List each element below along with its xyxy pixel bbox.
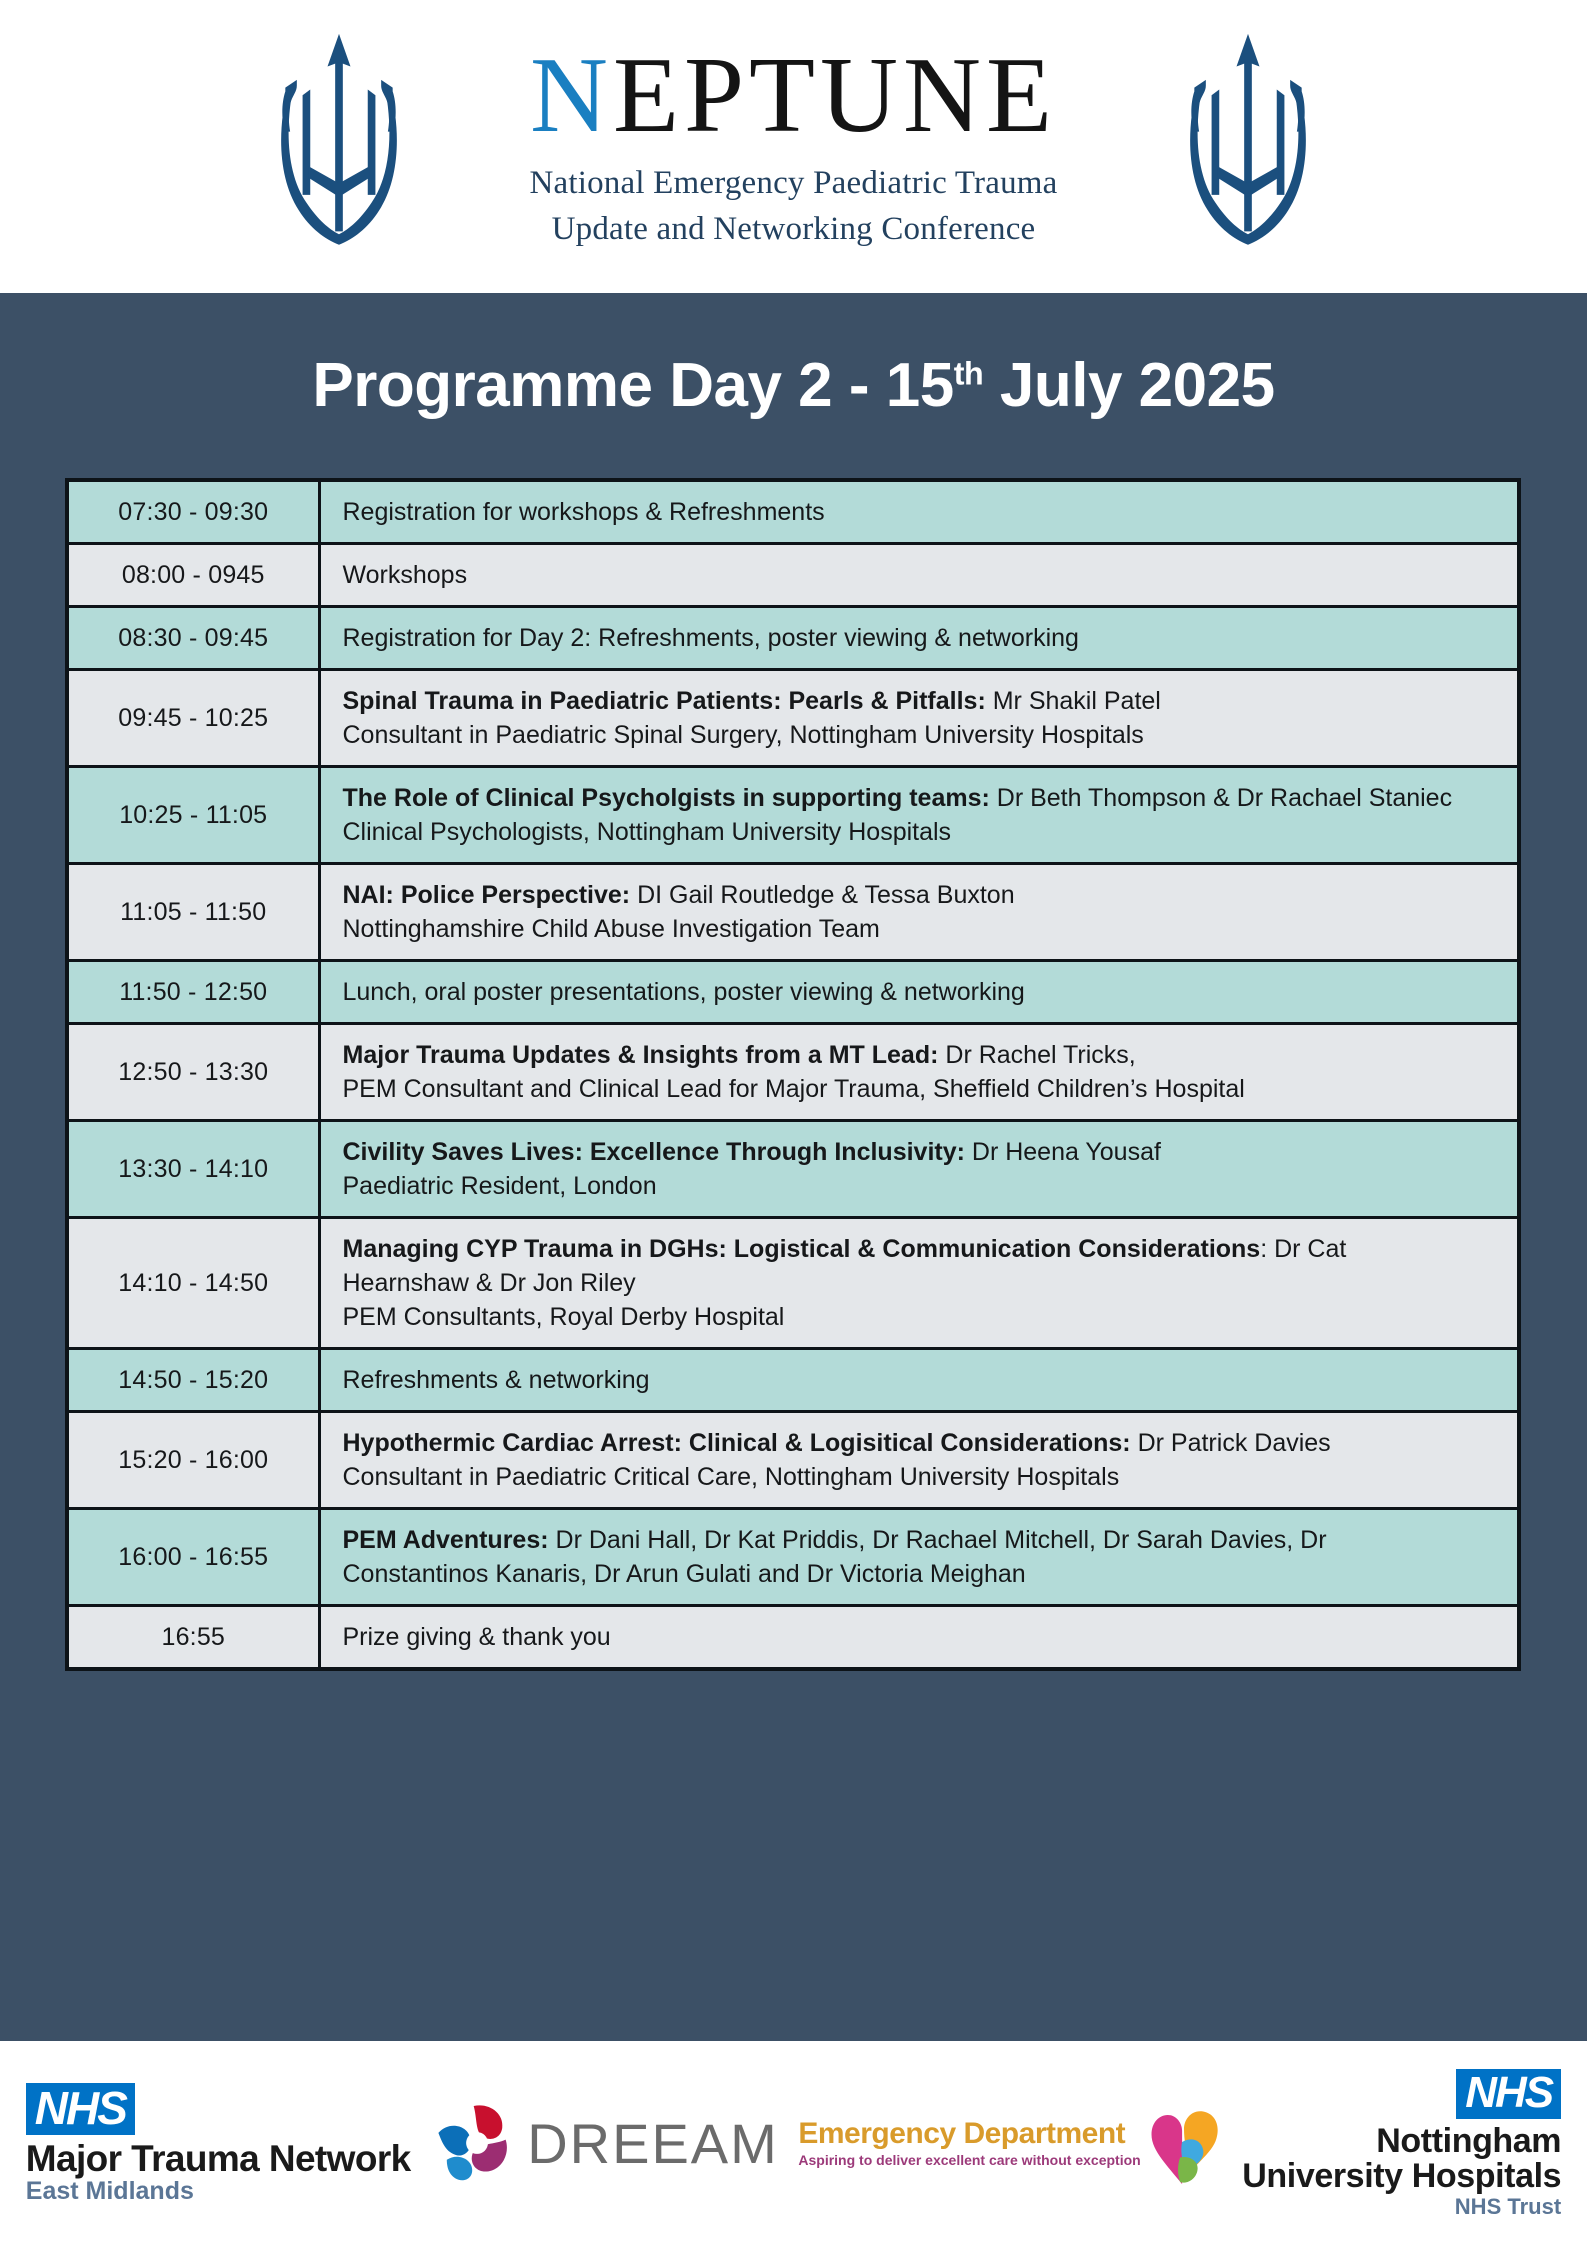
session-speaker: Registration for workshops & Refreshment… [343,498,825,526]
session-time: 14:10 - 14:50 [67,1218,319,1349]
session-time: 14:50 - 15:20 [67,1349,319,1412]
session-description-line: NAI: Police Perspective: DI Gail Routled… [343,878,1502,912]
mtn-line2: East Midlands [26,2179,411,2204]
logo-subtitle-line1: National Emergency Paediatric Trauma [529,161,1057,207]
title-suffix: July 2025 [983,351,1274,420]
session-speaker: Dr Heena Yousaf [965,1138,1161,1166]
table-row: 16:55Prize giving & thank you [67,1606,1519,1670]
session-description-line: Hearnshaw & Dr Jon Riley [343,1266,1502,1300]
session-speaker: Consultant in Paediatric Critical Care, … [343,1463,1120,1491]
session-description-line: Constantinos Kanaris, Dr Arun Gulati and… [343,1557,1502,1591]
session-speaker: DI Gail Routledge & Tessa Buxton [630,881,1014,909]
session-description-line: Clinical Psychologists, Nottingham Unive… [343,815,1502,849]
session-description-line: Registration for Day 2: Refreshments, po… [343,621,1502,655]
session-speaker: Dr Beth Thompson & Dr Rachael Staniec [990,784,1452,812]
session-speaker: : Dr Cat [1260,1235,1346,1263]
session-speaker: Dr Patrick Davies [1131,1429,1331,1457]
session-description-line: Spinal Trauma in Paediatric Patients: Pe… [343,684,1502,718]
session-speaker: Paediatric Resident, London [343,1172,657,1200]
table-row: 08:30 - 09:45Registration for Day 2: Ref… [67,607,1519,670]
session-time: 16:00 - 16:55 [67,1509,319,1606]
nuh-line1: Nottingham [1242,2124,1561,2158]
session-speaker: Workshops [343,561,468,589]
session-speaker: Dr Rachel Tricks, [938,1041,1135,1069]
session-description: NAI: Police Perspective: DI Gail Routled… [319,864,1519,961]
session-description-line: Consultant in Paediatric Spinal Surgery,… [343,718,1502,752]
session-speaker: Nottinghamshire Child Abuse Investigatio… [343,915,880,943]
session-description-line: Registration for workshops & Refreshment… [343,495,1502,529]
session-description-line: Workshops [343,558,1502,592]
session-description: PEM Adventures: Dr Dani Hall, Dr Kat Pri… [319,1509,1519,1606]
title-prefix: Programme Day 2 - 15 [312,351,953,420]
session-description-line: Civility Saves Lives: Excellence Through… [343,1135,1502,1169]
session-description-line: Nottinghamshire Child Abuse Investigatio… [343,912,1502,946]
session-description: Workshops [319,544,1519,607]
session-title: Civility Saves Lives: Excellence Through… [343,1138,965,1166]
session-description: Hypothermic Cardiac Arrest: Clinical & L… [319,1412,1519,1509]
session-description: Prize giving & thank you [319,1606,1519,1670]
session-time: 10:25 - 11:05 [67,767,319,864]
session-speaker: Lunch, oral poster presentations, poster… [343,978,1025,1006]
nuh-line3: NHS Trust [1242,2196,1561,2218]
nottingham-university-hospitals-logo: NHS Nottingham University Hospitals NHS … [1242,2069,1561,2218]
session-time: 09:45 - 10:25 [67,670,319,767]
session-title: NAI: Police Perspective: [343,881,631,909]
session-description-line: Paediatric Resident, London [343,1169,1502,1203]
wordmark-rest: EPTUNE [613,36,1057,155]
emergency-department-title: Emergency Department [798,2118,1140,2150]
session-time: 16:55 [67,1606,319,1670]
table-row: 14:10 - 14:50Managing CYP Trauma in DGHs… [67,1218,1519,1349]
session-time: 07:30 - 09:30 [67,480,319,544]
session-time: 11:05 - 11:50 [67,864,319,961]
session-description-line: Lunch, oral poster presentations, poster… [343,975,1502,1009]
nhs-badge-icon: NHS [1456,2069,1561,2119]
programme-poster: NEPTUNE National Emergency Paediatric Tr… [0,0,1587,2245]
nhs-badge-icon: NHS [26,2083,135,2135]
table-row: 07:30 - 09:30Registration for workshops … [67,480,1519,544]
session-description: Spinal Trauma in Paediatric Patients: Pe… [319,670,1519,767]
session-speaker: Constantinos Kanaris, Dr Arun Gulati and… [343,1560,1026,1588]
emergency-department-logo: Emergency Department Aspiring to deliver… [798,2100,1222,2186]
session-time: 08:00 - 0945 [67,544,319,607]
heart-icon [1145,2100,1223,2186]
session-title: Hypothermic Cardiac Arrest: Clinical & L… [343,1429,1131,1457]
session-speaker: Hearnshaw & Dr Jon Riley [343,1269,636,1297]
session-time: 12:50 - 13:30 [67,1024,319,1121]
table-row: 09:45 - 10:25Spinal Trauma in Paediatric… [67,670,1519,767]
table-row: 11:50 - 12:50Lunch, oral poster presenta… [67,961,1519,1024]
session-description-line: PEM Consultants, Royal Derby Hospital [343,1300,1502,1334]
nhs-major-trauma-network-logo: NHS Major Trauma Network East Midlands [26,2083,411,2204]
session-description-line: Prize giving & thank you [343,1620,1502,1654]
footer-sponsor-band: NHS Major Trauma Network East Midlands D… [0,2038,1587,2245]
session-speaker: Refreshments & networking [343,1366,650,1394]
session-description-line: Hypothermic Cardiac Arrest: Clinical & L… [343,1426,1502,1460]
session-description: Registration for workshops & Refreshment… [319,480,1519,544]
table-row: 16:00 - 16:55PEM Adventures: Dr Dani Hal… [67,1509,1519,1606]
session-description: Lunch, oral poster presentations, poster… [319,961,1519,1024]
session-description-line: Major Trauma Updates & Insights from a M… [343,1038,1502,1072]
session-description: Managing CYP Trauma in DGHs: Logistical … [319,1218,1519,1349]
session-title: PEM Adventures: [343,1526,549,1554]
programme-table-wrapper: 07:30 - 09:30Registration for workshops … [65,478,1521,1671]
dreeam-logo: DREEAM [430,2101,779,2185]
session-speaker: Mr Shakil Patel [986,687,1161,715]
wordmark-initial: N [530,36,613,155]
session-description: Major Trauma Updates & Insights from a M… [319,1024,1519,1121]
table-row: 10:25 - 11:05The Role of Clinical Psycho… [67,767,1519,864]
table-row: 13:30 - 14:10Civility Saves Lives: Excel… [67,1121,1519,1218]
session-description-line: The Role of Clinical Psycholgists in sup… [343,781,1502,815]
session-description: Civility Saves Lives: Excellence Through… [319,1121,1519,1218]
session-speaker: PEM Consultant and Clinical Lead for Maj… [343,1075,1245,1103]
session-title: The Role of Clinical Psycholgists in sup… [343,784,990,812]
trident-icon [239,32,439,262]
dreeam-wordmark: DREEAM [527,2111,779,2176]
session-title: Major Trauma Updates & Insights from a M… [343,1041,939,1069]
session-description-line: PEM Adventures: Dr Dani Hall, Dr Kat Pri… [343,1523,1502,1557]
session-time: 11:50 - 12:50 [67,961,319,1024]
session-description: Refreshments & networking [319,1349,1519,1412]
neptune-wordmark: NEPTUNE National Emergency Paediatric Tr… [529,41,1057,252]
session-time: 13:30 - 14:10 [67,1121,319,1218]
table-row: 12:50 - 13:30Major Trauma Updates & Insi… [67,1024,1519,1121]
session-description-line: Managing CYP Trauma in DGHs: Logistical … [343,1232,1502,1266]
logo-subtitle-line2: Update and Networking Conference [529,207,1057,253]
session-title: Managing CYP Trauma in DGHs: Logistical … [343,1235,1261,1263]
session-description: The Role of Clinical Psycholgists in sup… [319,767,1519,864]
mtn-line1: Major Trauma Network [26,2140,411,2177]
emergency-department-tagline: Aspiring to deliver excellent care witho… [798,2153,1140,2168]
session-description-line: Consultant in Paediatric Critical Care, … [343,1460,1502,1494]
table-row: 11:05 - 11:50NAI: Police Perspective: DI… [67,864,1519,961]
dreeam-mark-icon [430,2101,514,2185]
trident-icon [1148,32,1348,262]
table-row: 15:20 - 16:00Hypothermic Cardiac Arrest:… [67,1412,1519,1509]
session-time: 08:30 - 09:45 [67,607,319,670]
page-title: Programme Day 2 - 15th July 2025 [312,350,1274,421]
session-speaker: Clinical Psychologists, Nottingham Unive… [343,818,952,846]
header-logo-band: NEPTUNE National Emergency Paediatric Tr… [0,0,1587,293]
session-speaker: Prize giving & thank you [343,1623,611,1651]
session-speaker: PEM Consultants, Royal Derby Hospital [343,1303,785,1331]
session-description: Registration for Day 2: Refreshments, po… [319,607,1519,670]
table-row: 08:00 - 0945Workshops [67,544,1519,607]
session-speaker: Consultant in Paediatric Spinal Surgery,… [343,721,1144,749]
programme-table: 07:30 - 09:30Registration for workshops … [65,478,1521,1671]
session-time: 15:20 - 16:00 [67,1412,319,1509]
session-description-line: PEM Consultant and Clinical Lead for Maj… [343,1072,1502,1106]
session-speaker: Registration for Day 2: Refreshments, po… [343,624,1079,652]
nuh-line2: University Hospitals [1242,2159,1561,2193]
session-description-line: Refreshments & networking [343,1363,1502,1397]
table-row: 14:50 - 15:20Refreshments & networking [67,1349,1519,1412]
title-ordinal: th [954,355,983,391]
session-speaker: Dr Dani Hall, Dr Kat Priddis, Dr Rachael… [549,1526,1327,1554]
title-bar: Programme Day 2 - 15th July 2025 [0,293,1587,478]
session-title: Spinal Trauma in Paediatric Patients: Pe… [343,687,986,715]
